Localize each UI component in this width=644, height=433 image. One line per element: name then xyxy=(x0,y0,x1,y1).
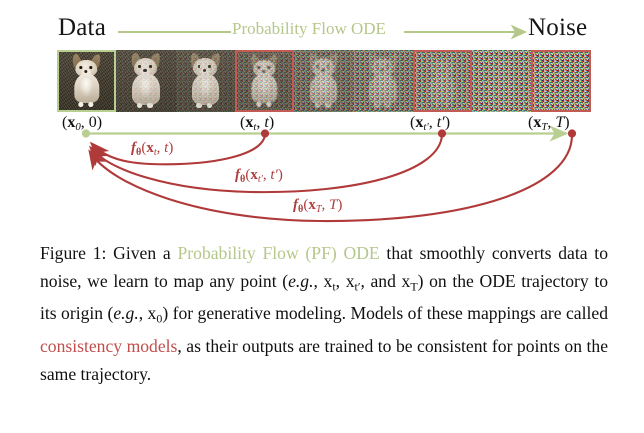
filmstrip-frame-9 xyxy=(531,50,590,112)
pf-ode-axis: Data Probability Flow ODE Noise xyxy=(0,12,644,46)
caption-mid-2: , x xyxy=(314,271,333,291)
filmstrip-frame-2 xyxy=(116,50,175,112)
caption-mid-6: , x xyxy=(139,303,157,323)
filmstrip-frame-3 xyxy=(176,50,235,112)
frame-noise-layer xyxy=(533,52,588,110)
function-label-xT: fθ(xT, T) xyxy=(293,196,342,219)
frame-noise-layer xyxy=(237,52,292,110)
caption-sub-T: T xyxy=(410,279,417,293)
figure-caption: Figure 1: Given a Probability Flow (PF) … xyxy=(40,240,608,388)
filmstrip-frame-4 xyxy=(235,50,294,112)
caption-highlight-pf-ode: Probability Flow (PF) ODE xyxy=(178,243,380,263)
caption-mid-4: , and x xyxy=(360,271,410,291)
filmstrip-frame-5 xyxy=(294,50,353,112)
axis-label-data: Data xyxy=(58,12,106,44)
caption-eg-1: e.g. xyxy=(288,271,313,291)
mapping-arrow-xt xyxy=(92,135,265,164)
frame-noise-layer xyxy=(415,52,470,110)
frame-noise-layer xyxy=(294,50,353,112)
caption-eg-2: e.g. xyxy=(113,303,138,323)
node-dot-x0 xyxy=(82,129,90,137)
filmstrip-frame-1 xyxy=(57,50,116,112)
axis-label-noise: Noise xyxy=(528,12,587,44)
axis-label-probability-flow-ode: Probability Flow ODE xyxy=(232,16,386,42)
frame-noise-layer xyxy=(472,50,531,112)
frame-noise-layer xyxy=(176,50,235,112)
filmstrip-frame-6 xyxy=(353,50,412,112)
caption-prefix: Figure 1: Given a xyxy=(40,243,178,263)
figure-root: Data Probability Flow ODE Noise xyxy=(0,0,644,433)
frame-noise-layer xyxy=(116,50,175,112)
filmstrip-frame-7 xyxy=(413,50,472,112)
filmstrip-frame-8 xyxy=(472,50,531,112)
caption-mid-3: , x xyxy=(336,271,355,291)
function-label-xtprime: fθ(xt′, t′) xyxy=(235,166,283,189)
function-label-xt: fθ(xt, t) xyxy=(131,139,173,162)
frame-noise-layer xyxy=(353,50,412,112)
caption-highlight-consistency-models: consistency models xyxy=(40,336,177,356)
diffusion-filmstrip xyxy=(57,50,591,112)
caption-mid-7: ) for generative modeling. Models of the… xyxy=(162,303,608,323)
